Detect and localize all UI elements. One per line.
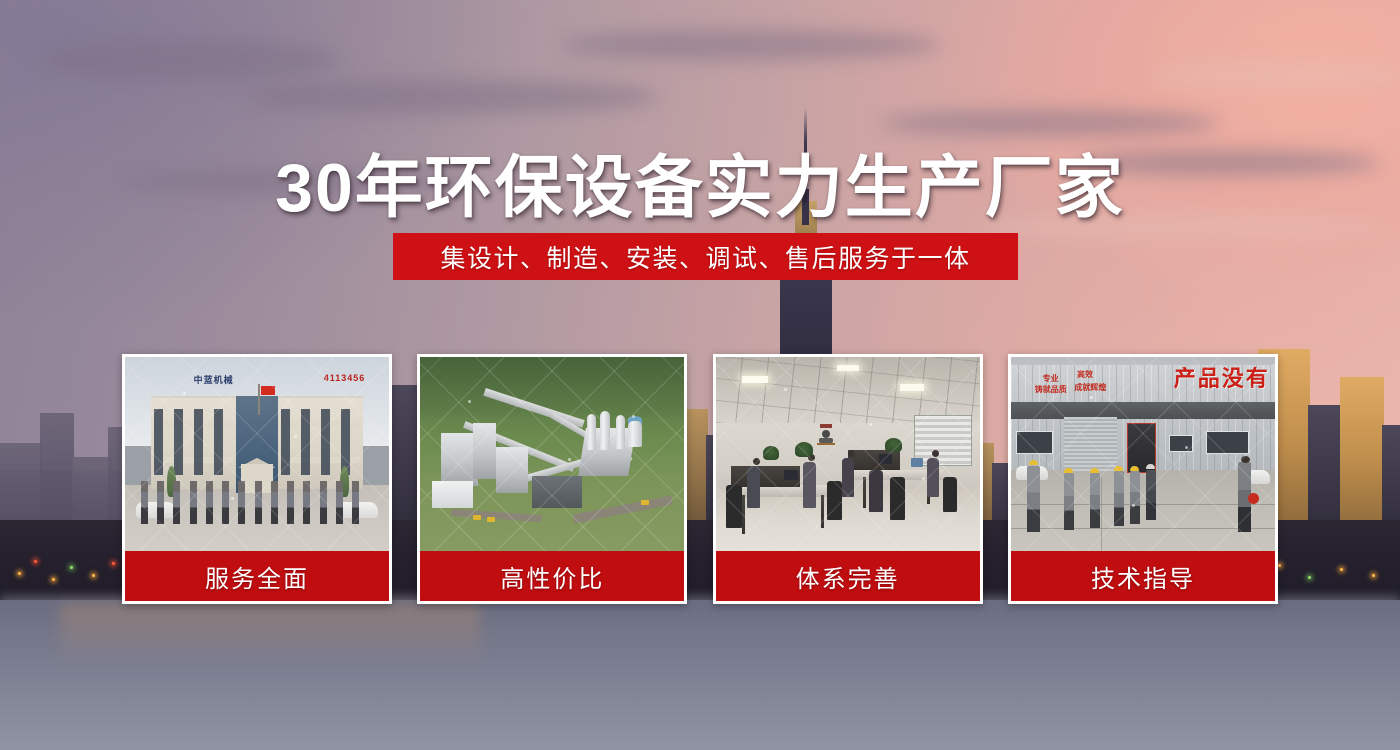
workshop-slogan-text: 成就辉煌: [1074, 382, 1106, 393]
workshop-slogan-text: 专业: [1043, 373, 1059, 384]
feature-card-label: 服务全面: [125, 551, 389, 601]
feature-card[interactable]: 高性价比: [417, 354, 687, 604]
cloud-shape: [560, 30, 940, 60]
cloud-shape: [240, 80, 660, 114]
promo-banner: 30年环保设备实力生产厂家 集设计、制造、安装、调试、售后服务于一体 中蓝机械 …: [0, 0, 1400, 750]
subtitle-banner: 集设计、制造、安装、调试、售后服务于一体: [393, 233, 1018, 280]
company-office-building-photo: 中蓝机械 4113456: [125, 357, 389, 551]
wall-decal-icon: [811, 423, 841, 447]
aerial-industrial-plant-photo: [420, 357, 684, 551]
feature-card-label: 体系完善: [716, 551, 980, 601]
workshop-training-photo: 产品没有 专业 高效 铸就品质 成就辉煌: [1011, 357, 1275, 551]
feature-card[interactable]: 产品没有 专业 高效 铸就品质 成就辉煌: [1008, 354, 1278, 604]
workshop-slogan-text: 铸就品质: [1035, 384, 1067, 395]
workshop-slogan-text: 高效: [1077, 369, 1093, 380]
feature-card[interactable]: 体系完善: [713, 354, 983, 604]
workshop-banner-text: 产品没有: [1174, 361, 1270, 393]
building-phone-text: 4113456: [324, 373, 366, 383]
feature-card-label: 技术指导: [1011, 551, 1275, 601]
feature-card-label: 高性价比: [420, 551, 684, 601]
building-sign-text: 中蓝机械: [194, 373, 234, 386]
staff-line: [141, 481, 373, 524]
subtitle-text: 集设计、制造、安装、调试、售后服务于一体: [440, 239, 970, 275]
water-reflection: [60, 604, 480, 664]
office-interior-photo: [716, 357, 980, 551]
feature-card-row: 中蓝机械 4113456: [122, 354, 1278, 604]
feature-card[interactable]: 中蓝机械 4113456: [122, 354, 392, 604]
cloud-shape: [40, 40, 340, 80]
page-title: 30年环保设备实力生产厂家: [0, 132, 1400, 231]
cloud-shape: [1150, 60, 1400, 90]
